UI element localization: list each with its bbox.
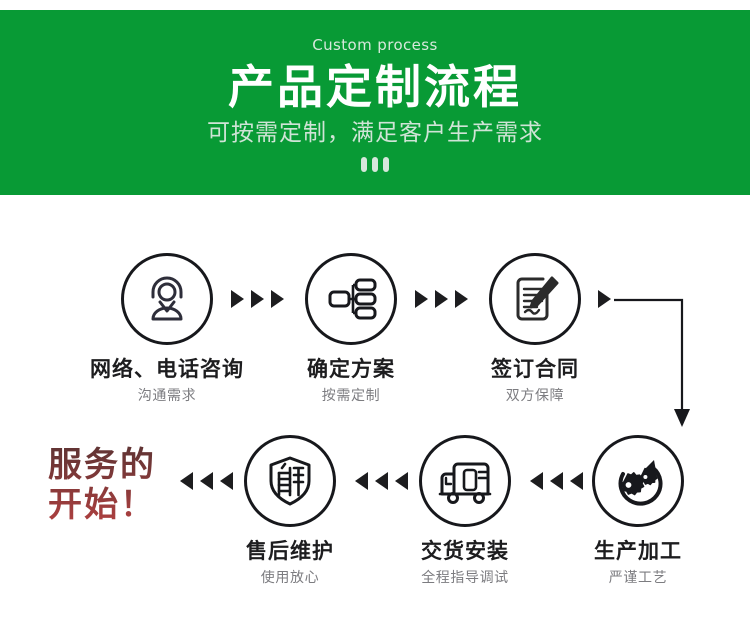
page-title: 产品定制流程: [228, 63, 522, 111]
triangle-right-icon: [251, 290, 264, 308]
arrow-group-right-3: [598, 290, 611, 308]
flow-step-sub: 沟通需求: [82, 388, 252, 403]
service-start-label: 服务的 开始！: [48, 445, 156, 525]
flow-step-title: 生产加工: [553, 540, 723, 563]
flow-step-sub: 严谨工艺: [553, 570, 723, 585]
triangle-left-icon: [355, 472, 368, 490]
flow-step-sub: 全程指导调试: [380, 570, 550, 585]
flow-step-title: 确定方案: [266, 358, 436, 381]
elbow-connector-arrow: [614, 293, 704, 433]
dot-2: [372, 157, 378, 172]
flow-step-production[interactable]: 生产加工 严谨工艺: [553, 435, 723, 585]
dot-3: [383, 157, 389, 172]
triangle-right-icon: [435, 290, 448, 308]
triangle-left-icon: [180, 472, 193, 490]
process-flow: 网络、电话咨询 沟通需求 确定方案 按需定制: [0, 195, 750, 634]
gears-icon: [592, 435, 684, 527]
flow-step-title: 签订合同: [450, 358, 620, 381]
flow-step-contract[interactable]: 签订合同 双方保障: [450, 253, 620, 403]
flow-step-title: 售后维护: [205, 540, 375, 563]
flow-step-delivery[interactable]: 交货安装 全程指导调试: [380, 435, 550, 585]
contract-pen-icon: [489, 253, 581, 345]
header-banner: Custom process 产品定制流程 可按需定制，满足客户生产需求: [0, 10, 750, 195]
delivery-truck-icon: [419, 435, 511, 527]
flow-step-title: 网络、电话咨询: [82, 358, 252, 381]
flow-step-sub: 使用放心: [205, 570, 375, 585]
flow-step-sub: 双方保障: [450, 388, 620, 403]
flow-step-plan[interactable]: 确定方案 按需定制: [266, 253, 436, 403]
triangle-right-icon: [231, 290, 244, 308]
flow-step-sub: 按需定制: [266, 388, 436, 403]
flow-step-after-sales[interactable]: 售后维护 使用放心: [205, 435, 375, 585]
org-chart-icon: [305, 253, 397, 345]
banner-eyebrow: Custom process: [312, 38, 437, 53]
headset-person-icon: [121, 253, 213, 345]
banner-dots-decoration: [361, 157, 389, 172]
shield-after-sales-icon: [244, 435, 336, 527]
triangle-right-icon: [598, 290, 611, 308]
triangle-right-icon: [415, 290, 428, 308]
triangle-left-icon: [530, 472, 543, 490]
flow-step-title: 交货安装: [380, 540, 550, 563]
banner-subtitle: 可按需定制，满足客户生产需求: [207, 120, 543, 145]
dot-1: [361, 157, 367, 172]
flow-step-consultation[interactable]: 网络、电话咨询 沟通需求: [82, 253, 252, 403]
